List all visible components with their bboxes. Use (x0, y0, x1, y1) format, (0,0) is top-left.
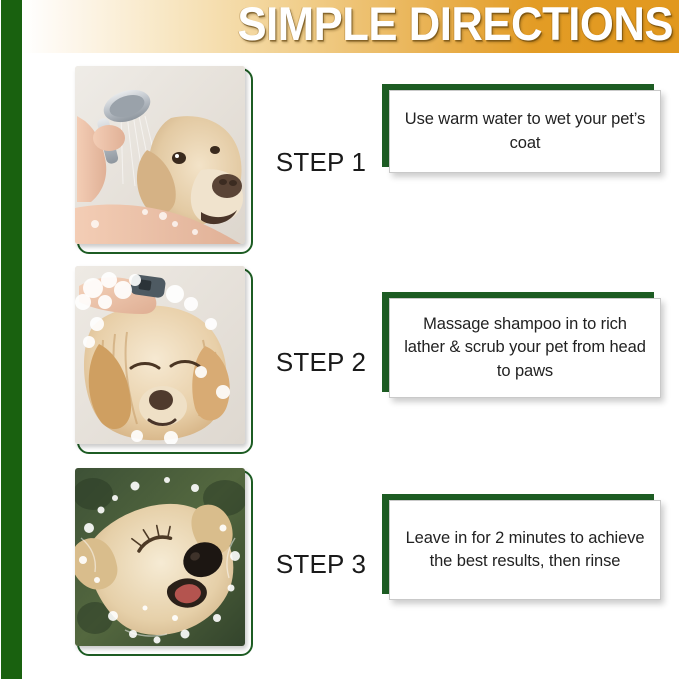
callout-text: Use warm water to wet your pet’s coat (390, 108, 660, 155)
step-photo (75, 468, 245, 646)
page-title: SIMPLE DIRECTIONS (237, 0, 673, 51)
header-banner: SIMPLE DIRECTIONS (22, 0, 679, 53)
dog-lather-photo-icon (75, 266, 245, 444)
dog-rinse-photo-icon (75, 66, 245, 244)
step-callout: Leave in for 2 minutes to achieve the be… (382, 494, 654, 594)
step-callout: Massage shampoo in to rich lather & scru… (382, 292, 654, 392)
step-photo-frame (77, 268, 253, 454)
step-photo (75, 266, 245, 444)
callout-text: Leave in for 2 minutes to achieve the be… (390, 527, 660, 574)
step-row: STEP 3 Leave in for 2 minutes to achieve… (22, 466, 679, 662)
step-label: STEP 3 (260, 466, 382, 662)
step-callout: Use warm water to wet your pet’s coat (382, 84, 654, 167)
callout-card: Use warm water to wet your pet’s coat (389, 90, 661, 173)
infographic-page: SIMPLE DIRECTIONS (0, 0, 679, 679)
step-row: STEP 2 Massage shampoo in to rich lather… (22, 264, 679, 460)
step-row: STEP 1 Use warm water to wet your pet’s … (22, 64, 679, 260)
step-photo (75, 66, 245, 244)
dog-shaking-photo-icon (75, 468, 245, 646)
callout-card: Leave in for 2 minutes to achieve the be… (389, 500, 661, 600)
step-label: STEP 2 (260, 264, 382, 460)
step-label: STEP 1 (260, 64, 382, 260)
callout-card: Massage shampoo in to rich lather & scru… (389, 298, 661, 398)
step-photo-frame (77, 470, 253, 656)
left-green-rail (1, 0, 22, 679)
step-photo-frame (77, 68, 253, 254)
callout-text: Massage shampoo in to rich lather & scru… (390, 313, 660, 383)
